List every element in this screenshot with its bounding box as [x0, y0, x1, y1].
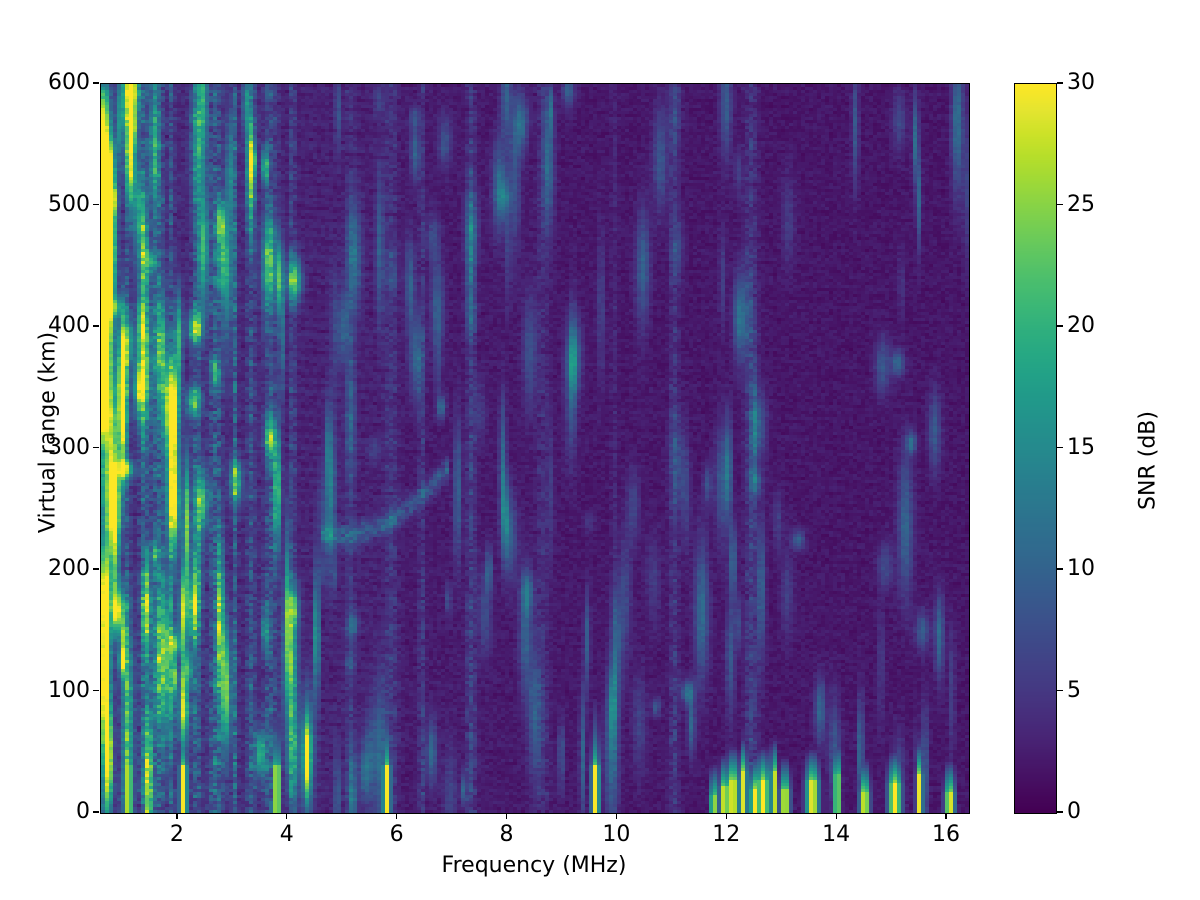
colorbar-tick-label: 15 — [1067, 437, 1095, 459]
colorbar-tick-label: 25 — [1067, 194, 1095, 216]
y-tick-mark — [93, 325, 99, 326]
x-tick-label: 12 — [712, 824, 740, 846]
ionogram-heatmap — [101, 84, 969, 813]
colorbar-tick-mark — [1057, 82, 1063, 83]
x-tick-label: 14 — [822, 824, 850, 846]
ionogram-plot-area — [100, 83, 970, 814]
x-tick-mark — [616, 813, 617, 819]
x-tick-mark — [176, 813, 177, 819]
x-tick-label: 2 — [170, 824, 184, 846]
colorbar-tick-mark — [1057, 690, 1063, 691]
colorbar-gradient — [1015, 84, 1056, 813]
x-tick-mark — [726, 813, 727, 819]
colorbar-tick-mark — [1057, 325, 1063, 326]
colorbar-tick-label: 0 — [1067, 801, 1081, 823]
colorbar-label: SNR (dB) — [1136, 331, 1161, 591]
x-tick-label: 6 — [390, 824, 404, 846]
y-axis-label: Virtual range (km) — [36, 113, 61, 753]
y-tick-mark — [93, 811, 99, 812]
y-tick-mark — [93, 447, 99, 448]
y-tick-mark — [93, 690, 99, 691]
y-tick-mark — [93, 568, 99, 569]
y-tick-mark — [93, 204, 99, 205]
x-axis-label: Frequency (MHz) — [100, 853, 968, 878]
x-tick-label: 16 — [932, 824, 960, 846]
x-tick-label: 8 — [500, 824, 514, 846]
y-tick-label: 0 — [76, 801, 90, 823]
x-tick-mark — [396, 813, 397, 819]
x-tick-label: 10 — [602, 824, 630, 846]
colorbar-tick-label: 30 — [1067, 72, 1095, 94]
x-tick-mark — [836, 813, 837, 819]
colorbar-tick-mark — [1057, 204, 1063, 205]
colorbar-tick-mark — [1057, 568, 1063, 569]
x-tick-mark — [286, 813, 287, 819]
colorbar-tick-label: 20 — [1067, 315, 1095, 337]
colorbar-tick-mark — [1057, 811, 1063, 812]
ionogram-figure: IRF Uppsala SDR Ionosonde UP158 2025-11-… — [0, 0, 1200, 900]
colorbar-tick-label: 5 — [1067, 680, 1081, 702]
x-tick-mark — [945, 813, 946, 819]
colorbar-tick-mark — [1057, 447, 1063, 448]
colorbar-tick-label: 10 — [1067, 558, 1095, 580]
y-tick-label: 600 — [48, 72, 90, 94]
x-tick-mark — [506, 813, 507, 819]
x-tick-label: 4 — [280, 824, 294, 846]
y-tick-mark — [93, 82, 99, 83]
colorbar — [1014, 83, 1057, 814]
